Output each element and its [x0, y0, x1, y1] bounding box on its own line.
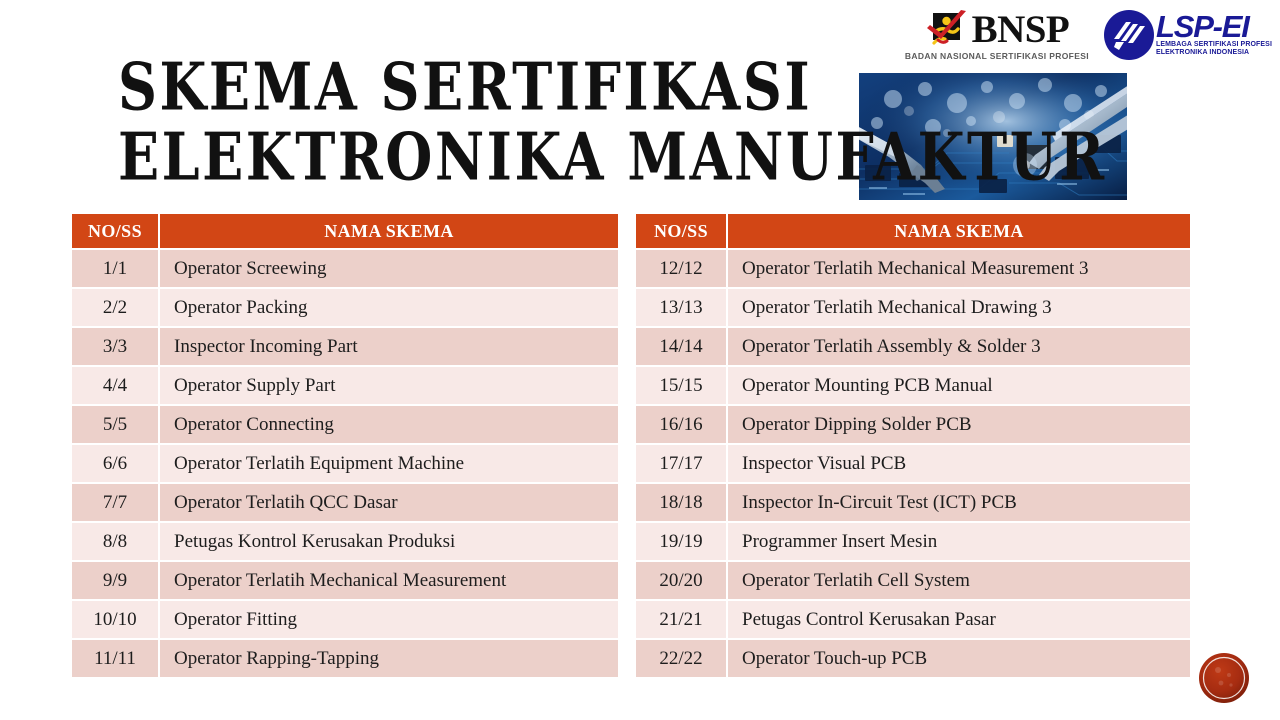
cell-no: 22/22 [636, 640, 726, 677]
cell-schema-name: Operator Rapping-Tapping [160, 640, 618, 677]
bnsp-subtitle: BADAN NASIONAL SERTIFIKASI PROFESI [905, 51, 1089, 61]
cell-no: 15/15 [636, 367, 726, 404]
lspei-subtitle-line2: ELEKTRONIKA INDONESIA [1156, 49, 1272, 57]
page-title-line-2: ELEKTRONIKA MANUFAKTUR [118, 122, 848, 192]
cell-schema-name: Operator Packing [160, 289, 618, 326]
page-title: SKEMA SERTIFIKASI ELEKTRONIKA MANUFAKTUR [118, 52, 848, 180]
cell-schema-name: Operator Terlatih QCC Dasar [160, 484, 618, 521]
lspei-emblem-icon [1103, 9, 1155, 61]
column-header-name: NAMA SKEMA [728, 214, 1190, 248]
column-header-no: NO/SS [636, 214, 726, 248]
table-row[interactable]: 11/11Operator Rapping-Tapping [72, 640, 618, 677]
bnsp-logo-row: BNSP [925, 10, 1070, 50]
table-row[interactable]: 1/1Operator Screewing [72, 250, 618, 287]
cell-no: 2/2 [72, 289, 158, 326]
cell-no: 20/20 [636, 562, 726, 599]
table-row[interactable]: 14/14Operator Terlatih Assembly & Solder… [636, 328, 1190, 365]
table-row[interactable]: 15/15Operator Mounting PCB Manual [636, 367, 1190, 404]
page-title-line-1: SKEMA SERTIFIKASI [118, 52, 848, 122]
table-row[interactable]: 9/9Operator Terlatih Mechanical Measurem… [72, 562, 618, 599]
cell-schema-name: Inspector Visual PCB [728, 445, 1190, 482]
cell-no: 16/16 [636, 406, 726, 443]
table-row[interactable]: 13/13Operator Terlatih Mechanical Drawin… [636, 289, 1190, 326]
table-row[interactable]: 5/5Operator Connecting [72, 406, 618, 443]
table-row[interactable]: 19/19Programmer Insert Mesin [636, 523, 1190, 560]
cell-no: 9/9 [72, 562, 158, 599]
cell-no: 5/5 [72, 406, 158, 443]
logo-bar: BNSP BADAN NASIONAL SERTIFIKASI PROFESI … [905, 4, 1272, 66]
table-row[interactable]: 20/20Operator Terlatih Cell System [636, 562, 1190, 599]
cell-no: 6/6 [72, 445, 158, 482]
bnsp-emblem-icon [925, 10, 969, 50]
table-body-right: 12/12Operator Terlatih Mechanical Measur… [636, 250, 1190, 677]
cell-schema-name: Operator Screewing [160, 250, 618, 287]
slide-root: BNSP BADAN NASIONAL SERTIFIKASI PROFESI … [0, 0, 1280, 720]
table-row[interactable]: 17/17Inspector Visual PCB [636, 445, 1190, 482]
cell-no: 7/7 [72, 484, 158, 521]
cell-schema-name: Operator Fitting [160, 601, 618, 638]
bnsp-logo: BNSP BADAN NASIONAL SERTIFIKASI PROFESI [905, 10, 1089, 61]
cell-no: 11/11 [72, 640, 158, 677]
table-row[interactable]: 12/12Operator Terlatih Mechanical Measur… [636, 250, 1190, 287]
table-row[interactable]: 22/22Operator Touch-up PCB [636, 640, 1190, 677]
cell-no: 3/3 [72, 328, 158, 365]
table-row[interactable]: 7/7Operator Terlatih QCC Dasar [72, 484, 618, 521]
cell-no: 10/10 [72, 601, 158, 638]
column-header-no: NO/SS [72, 214, 158, 248]
cell-no: 14/14 [636, 328, 726, 365]
cell-schema-name: Petugas Kontrol Kerusakan Produksi [160, 523, 618, 560]
table-row[interactable]: 4/4Operator Supply Part [72, 367, 618, 404]
cell-no: 4/4 [72, 367, 158, 404]
cell-schema-name: Operator Mounting PCB Manual [728, 367, 1190, 404]
table-body-left: 1/1Operator Screewing2/2Operator Packing… [72, 250, 618, 677]
cell-schema-name: Petugas Control Kerusakan Pasar [728, 601, 1190, 638]
cell-no: 13/13 [636, 289, 726, 326]
lspei-logo: LSP-EI LEMBAGA SERTIFIKASI PROFESI ELEKT… [1103, 9, 1272, 61]
cell-schema-name: Inspector Incoming Part [160, 328, 618, 365]
lspei-wordmark: LSP-EI [1156, 13, 1272, 41]
cell-no: 17/17 [636, 445, 726, 482]
wax-seal-badge-icon [1196, 650, 1252, 706]
table-row[interactable]: 2/2Operator Packing [72, 289, 618, 326]
table-row[interactable]: 16/16Operator Dipping Solder PCB [636, 406, 1190, 443]
cell-schema-name: Operator Terlatih Mechanical Measurement [160, 562, 618, 599]
cell-schema-name: Operator Terlatih Mechanical Measurement… [728, 250, 1190, 287]
schema-table-right: NO/SS NAMA SKEMA 12/12Operator Terlatih … [636, 214, 1190, 677]
cell-schema-name: Programmer Insert Mesin [728, 523, 1190, 560]
column-header-name: NAMA SKEMA [160, 214, 618, 248]
cell-no: 1/1 [72, 250, 158, 287]
schema-table-left: NO/SS NAMA SKEMA 1/1Operator Screewing2/… [72, 214, 618, 677]
table-row[interactable]: 3/3Inspector Incoming Part [72, 328, 618, 365]
lspei-subtitle-line1: LEMBAGA SERTIFIKASI PROFESI [1156, 41, 1272, 49]
cell-schema-name: Operator Terlatih Mechanical Drawing 3 [728, 289, 1190, 326]
table-row[interactable]: 6/6Operator Terlatih Equipment Machine [72, 445, 618, 482]
table-header-row: NO/SS NAMA SKEMA [72, 214, 618, 248]
cell-schema-name: Inspector In-Circuit Test (ICT) PCB [728, 484, 1190, 521]
cell-schema-name: Operator Terlatih Cell System [728, 562, 1190, 599]
cell-schema-name: Operator Terlatih Equipment Machine [160, 445, 618, 482]
cell-schema-name: Operator Terlatih Assembly & Solder 3 [728, 328, 1190, 365]
table-row[interactable]: 18/18Inspector In-Circuit Test (ICT) PCB [636, 484, 1190, 521]
cell-no: 8/8 [72, 523, 158, 560]
cell-schema-name: Operator Connecting [160, 406, 618, 443]
table-row[interactable]: 10/10Operator Fitting [72, 601, 618, 638]
cell-schema-name: Operator Supply Part [160, 367, 618, 404]
cell-schema-name: Operator Touch-up PCB [728, 640, 1190, 677]
cell-schema-name: Operator Dipping Solder PCB [728, 406, 1190, 443]
cell-no: 21/21 [636, 601, 726, 638]
bnsp-wordmark: BNSP [972, 11, 1070, 48]
lspei-text-block: LSP-EI LEMBAGA SERTIFIKASI PROFESI ELEKT… [1156, 13, 1272, 57]
cell-no: 18/18 [636, 484, 726, 521]
cell-no: 12/12 [636, 250, 726, 287]
table-row[interactable]: 21/21Petugas Control Kerusakan Pasar [636, 601, 1190, 638]
table-header-row: NO/SS NAMA SKEMA [636, 214, 1190, 248]
cell-no: 19/19 [636, 523, 726, 560]
table-row[interactable]: 8/8Petugas Kontrol Kerusakan Produksi [72, 523, 618, 560]
